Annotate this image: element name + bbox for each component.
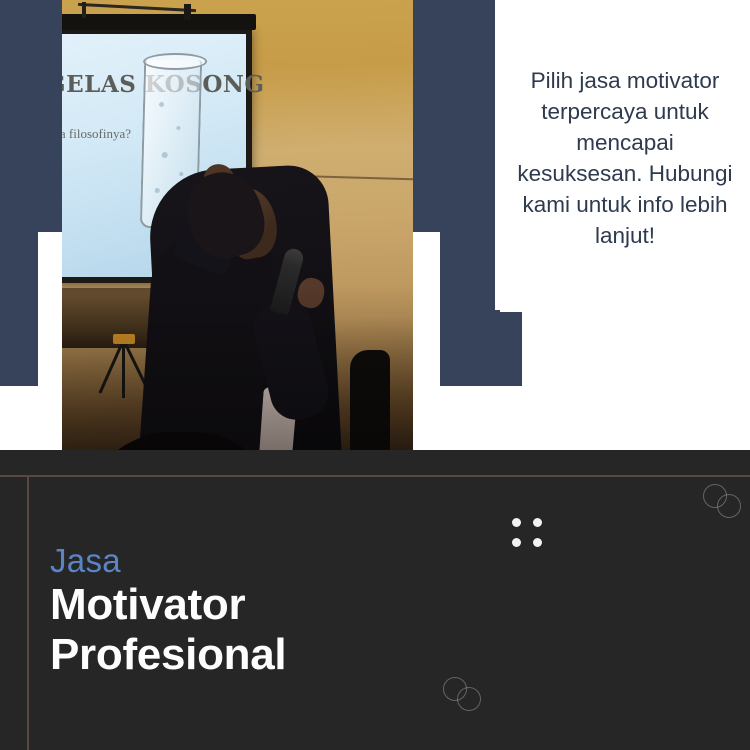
brand-title-line1: Motivator xyxy=(50,580,286,630)
quote-text: Pilih jasa motivator terpercaya untuk me… xyxy=(516,65,734,251)
footer-bar: Jasa Motivator Profesional xyxy=(0,450,750,750)
poster-canvas: GELAS KOSONG Apa filosofinya? xyxy=(0,0,750,750)
brand-title-line2: Profesional xyxy=(50,630,286,680)
quote-card: Pilih jasa motivator terpercaya untuk me… xyxy=(500,3,750,312)
brand-eyebrow: Jasa xyxy=(50,542,286,580)
speaker-photo: GELAS KOSONG Apa filosofinya? xyxy=(62,0,413,517)
white-notch-lower-right xyxy=(412,232,440,450)
brand-block: Jasa Motivator Profesional xyxy=(50,542,286,680)
footer-divider-vertical xyxy=(27,475,29,750)
footer-divider-horizontal xyxy=(0,475,750,477)
photo-vignette xyxy=(62,0,413,517)
dot-grid-icon xyxy=(512,518,543,547)
